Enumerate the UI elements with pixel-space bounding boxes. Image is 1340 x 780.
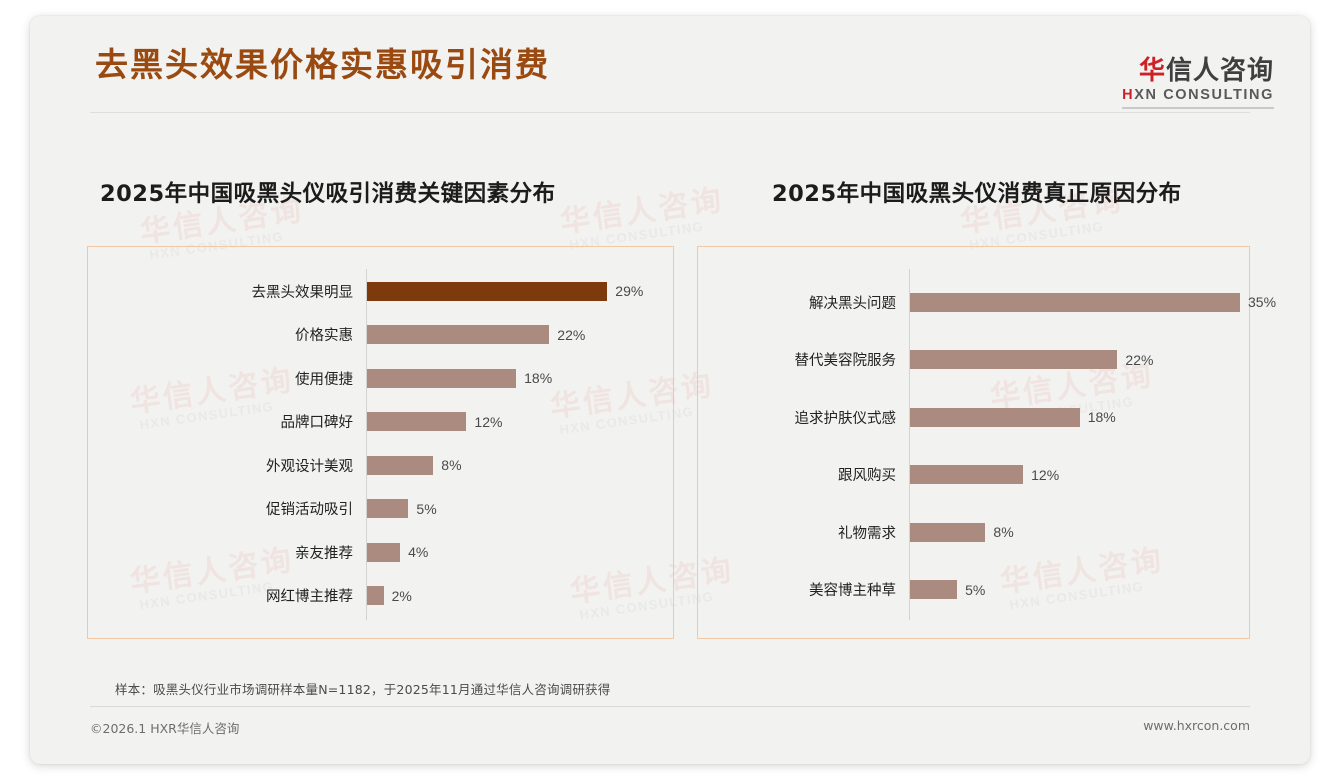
bar-category-label: 促销活动吸引 [266, 498, 367, 519]
bar-value-label: 8% [993, 524, 1013, 540]
bar-category-label: 去黑头效果明显 [252, 281, 368, 302]
bar-row: 替代美容院服务22% [910, 347, 1153, 373]
footer: ©2026.1 HXR华信人咨询 www.hxrcon.com [90, 718, 1250, 737]
copyright-text: ©2026.1 HXR华信人咨询 [90, 718, 239, 737]
bar [367, 543, 400, 562]
axis-line [909, 269, 910, 620]
page-title: 去黑头效果价格实惠吸引消费 [95, 38, 550, 86]
bar-category-label: 网红博主推荐 [266, 585, 367, 606]
bar-value-label: 35% [1248, 294, 1276, 310]
bar-row: 去黑头效果明显29% [367, 278, 643, 304]
bar-row: 使用便捷18% [367, 365, 552, 391]
bar-value-label: 22% [557, 327, 585, 343]
bar-row: 跟风购买12% [910, 462, 1059, 488]
bar [910, 523, 985, 542]
watermark: 华信人咨询 HXN CONSULTING [557, 175, 728, 253]
bar-row: 亲友推荐4% [367, 539, 428, 565]
bar-row: 追求护肤仪式感18% [910, 404, 1116, 430]
bar [367, 369, 516, 388]
watermark-cn: 华信人咨询 [557, 175, 727, 242]
website-link[interactable]: www.hxrcon.com [1143, 718, 1250, 737]
bar-value-label: 18% [524, 370, 552, 386]
bar-value-label: 12% [1031, 467, 1059, 483]
bar-value-label: 18% [1088, 409, 1116, 425]
bar-value-label: 2% [392, 588, 412, 604]
header: 去黑头效果价格实惠吸引消费 华信人咨询 HXN CONSULTING [30, 16, 1310, 112]
slide-card: 华信人咨询 HXN CONSULTING 华信人咨询 HXN CONSULTIN… [30, 16, 1310, 764]
bar-category-label: 跟风购买 [838, 464, 910, 485]
logo-english: HXN CONSULTING [1122, 87, 1274, 103]
bar [367, 412, 466, 431]
bar-row: 外观设计美观8% [367, 452, 462, 478]
bar-row: 网红博主推荐2% [367, 583, 412, 609]
bar-value-label: 4% [408, 544, 428, 560]
bar-value-label: 5% [416, 501, 436, 517]
bar-category-label: 追求护肤仪式感 [795, 407, 911, 428]
bar-row: 美容博主种草5% [910, 577, 985, 603]
bar-row: 品牌口碑好12% [367, 409, 502, 435]
title-divider [90, 112, 1250, 113]
bar [910, 465, 1023, 484]
bar [367, 499, 408, 518]
bar-value-label: 29% [615, 283, 643, 299]
bar-row: 礼物需求8% [910, 519, 1014, 545]
sample-note: 样本：吸黑头仪行业市场调研样本量N=1182，于2025年11月通过华信人咨询调… [115, 679, 610, 698]
bar-category-label: 解决黑头问题 [809, 292, 910, 313]
chart-panel-right: 解决黑头问题35%替代美容院服务22%追求护肤仪式感18%跟风购买12%礼物需求… [697, 246, 1250, 639]
logo-chinese: 华信人咨询 [1122, 58, 1274, 85]
bar [910, 408, 1080, 427]
company-logo: 华信人咨询 HXN CONSULTING [1122, 58, 1274, 109]
bar-category-label: 价格实惠 [295, 324, 367, 345]
bar [367, 586, 384, 605]
bar [910, 350, 1117, 369]
bar-row: 促销活动吸引5% [367, 496, 437, 522]
bar [910, 293, 1240, 312]
bar-row: 解决黑头问题35% [910, 289, 1276, 315]
bar-category-label: 品牌口碑好 [281, 411, 368, 432]
plot-area-right: 解决黑头问题35%替代美容院服务22%追求护肤仪式感18%跟风购买12%礼物需求… [698, 247, 1249, 638]
chart-panel-left: 去黑头效果明显29%价格实惠22%使用便捷18%品牌口碑好12%外观设计美观8%… [87, 246, 674, 639]
bar-category-label: 礼物需求 [838, 522, 910, 543]
bar-row: 价格实惠22% [367, 322, 585, 348]
bar-category-label: 外观设计美观 [266, 455, 367, 476]
logo-en-red: H [1122, 87, 1134, 103]
logo-cn-dark: 信人咨询 [1166, 56, 1274, 86]
bar-category-label: 使用便捷 [295, 368, 367, 389]
bar-value-label: 8% [441, 457, 461, 473]
bar-value-label: 5% [965, 582, 985, 598]
logo-cn-red: 华 [1139, 56, 1166, 86]
bar [367, 456, 433, 475]
bar [910, 580, 957, 599]
chart-title-left: 2025年中国吸黑头仪吸引消费关键因素分布 [100, 176, 556, 208]
bar-value-label: 22% [1125, 352, 1153, 368]
bar-category-label: 替代美容院服务 [795, 349, 911, 370]
bar-category-label: 美容博主种草 [809, 579, 910, 600]
bar [367, 282, 607, 301]
chart-title-right: 2025年中国吸黑头仪消费真正原因分布 [772, 176, 1182, 208]
bar [367, 325, 549, 344]
footer-divider [90, 706, 1250, 707]
bar-value-label: 12% [474, 414, 502, 430]
plot-area-left: 去黑头效果明显29%价格实惠22%使用便捷18%品牌口碑好12%外观设计美观8%… [88, 247, 673, 638]
bar-category-label: 亲友推荐 [295, 542, 367, 563]
logo-en-rest: XN CONSULTING [1134, 87, 1274, 103]
